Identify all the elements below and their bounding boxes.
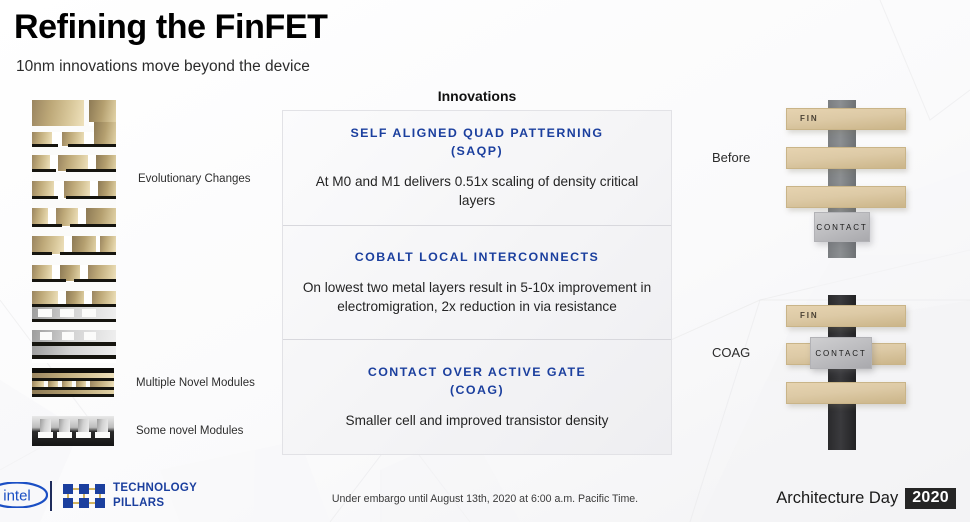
innovation-card-title: COBALT LOCAL INTERCONNECTS [355,249,599,267]
innovation-card-cobalt-local-interconnects[interactable]: COBALT LOCAL INTERCONNECTS On lowest two… [283,225,671,340]
left-item-label: Multiple Novel Modules [136,377,255,389]
innovation-card-coag[interactable]: CONTACT OVER ACTIVE GATE (COAG) Smaller … [283,339,671,454]
contact-box-coag: CONTACT [810,337,872,369]
fin-label: FIN [800,311,819,320]
innovation-card-title-line2: (COAG) [450,383,504,397]
fin-bar [786,186,906,208]
innovation-card-title-line2: (SAQP) [451,144,503,158]
diagram-before: Before FIN CONTACT [700,98,970,258]
fin-module-thumbnail-image [32,416,114,446]
contact-box-before: CONTACT [814,212,870,242]
innovations-panel: SELF ALIGNED QUAD PATTERNING (SAQP) At M… [282,110,672,455]
left-item-label: Some novel Modules [136,425,243,437]
left-column: Evolutionary Changes Multiple Novel Modu… [0,90,280,460]
fin-bar [786,382,906,404]
interconnect-module-thumbnail-image [32,368,114,397]
fin-bar [786,147,906,169]
innovation-card-body: Smaller cell and improved transistor den… [346,411,609,430]
innovation-card-saqp[interactable]: SELF ALIGNED QUAD PATTERNING (SAQP) At M… [283,111,671,225]
innovation-card-title: SELF ALIGNED QUAD PATTERNING (SAQP) [350,125,603,161]
metal-stack-cross-section-image [32,100,116,363]
diagram-before-label: Before [712,150,750,165]
footer: intel TECHNOLOGY PILLARS Under embargo u… [0,466,970,522]
left-item-label: Evolutionary Changes [138,173,251,185]
event-branding: Architecture Day 2020 [776,488,956,509]
left-item-some-novel-modules: Some novel Modules [32,416,243,446]
left-item-multiple-novel-modules: Multiple Novel Modules [32,368,255,397]
diagram-coag: COAG FIN CONTACT [700,295,970,455]
innovation-card-title-line1: SELF ALIGNED QUAD PATTERNING [350,126,603,140]
innovation-card-body: On lowest two metal layers result in 5-1… [299,278,655,317]
innovation-card-title-line1: CONTACT OVER ACTIVE GATE [368,365,586,379]
innovation-card-title-line1: COBALT LOCAL INTERCONNECTS [355,250,599,264]
innovation-card-body: At M0 and M1 delivers 0.51x scaling of d… [299,172,655,211]
page-subtitle: 10nm innovations move beyond the device [16,58,310,76]
innovations-heading: Innovations [282,88,672,104]
event-year-badge: 2020 [905,488,956,509]
page-title: Refining the FinFET [14,8,327,47]
innovation-card-title: CONTACT OVER ACTIVE GATE (COAG) [368,364,586,400]
left-item-evolutionary-changes: Evolutionary Changes [116,173,251,185]
event-name: Architecture Day [776,489,898,508]
fin-label: FIN [800,114,819,123]
diagram-coag-label: COAG [712,345,750,360]
